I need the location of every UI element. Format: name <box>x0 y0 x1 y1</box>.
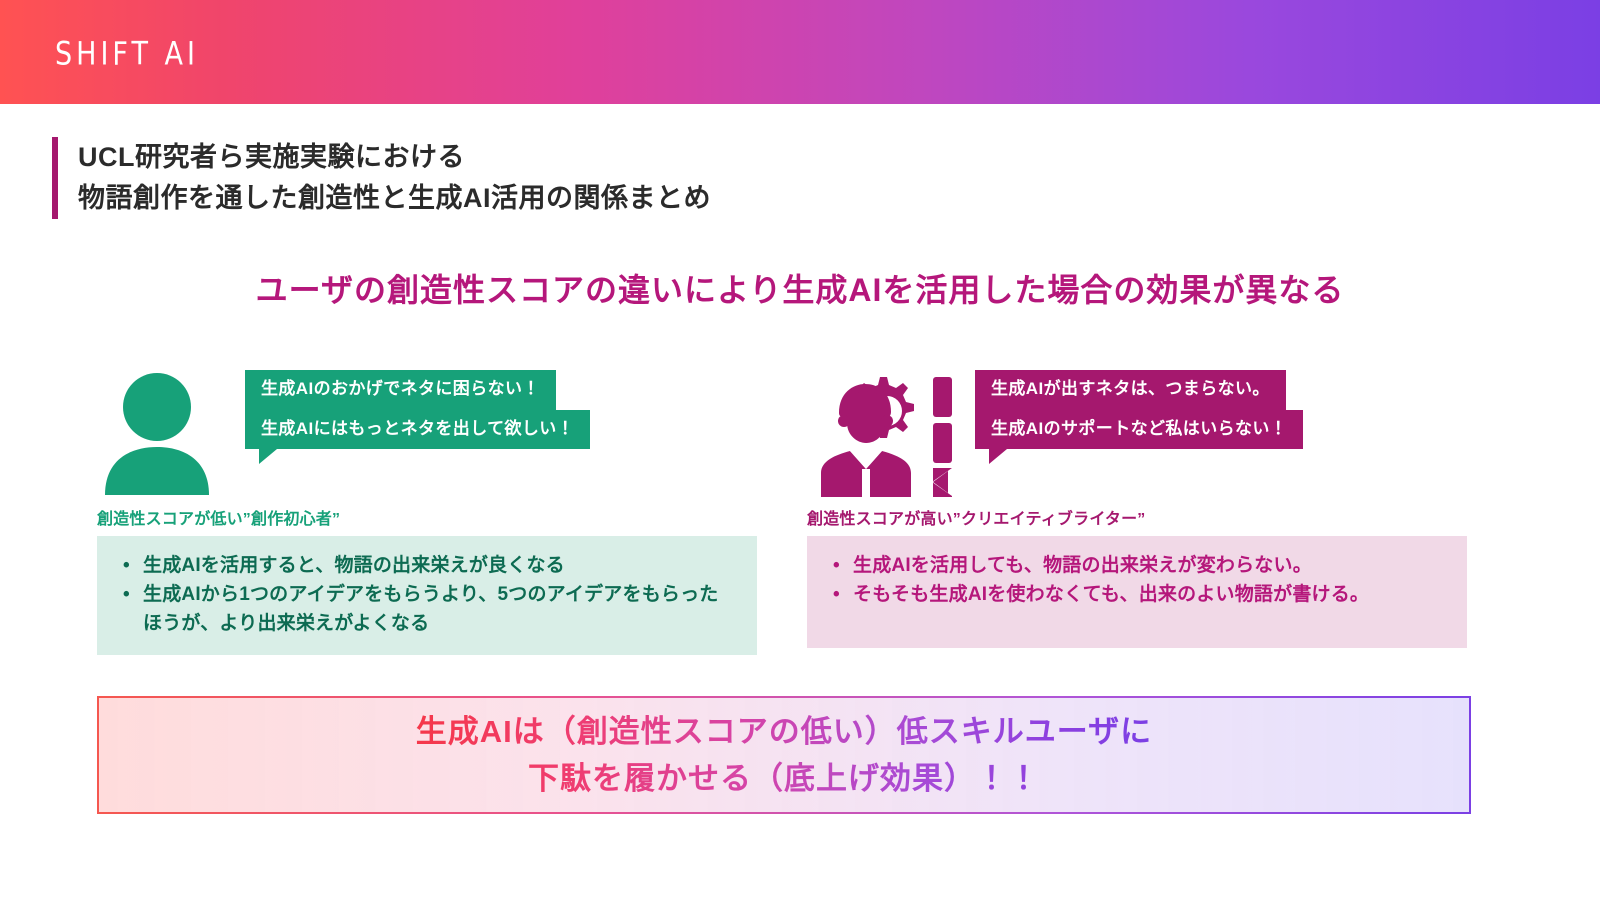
person-icon <box>95 365 245 495</box>
conclusion-text: 生成AIは（創造性スコアの低い）低スキルユーザに 下駄を履かせる（底上げ効果）！… <box>416 708 1152 802</box>
speech-bubbles-creative-writer: 生成AIが出すネタは、つまらない。 生成AIのサポートなど私はいらない！ <box>975 370 1303 449</box>
person-with-gear-icon <box>805 365 955 495</box>
persona-caption-novice: 創造性スコアが低い”創作初心者” <box>97 505 340 529</box>
speech-bubble: 生成AIが出すネタは、つまらない。 <box>975 370 1286 410</box>
speech-bubble: 生成AIのおかげでネタに困らない！ <box>245 370 556 410</box>
shift-ai-logo: SHIFT AI <box>55 36 199 73</box>
conclusion-banner: 生成AIは（創造性スコアの低い）低スキルユーザに 下駄を履かせる（底上げ効果）！… <box>97 696 1471 814</box>
page-header: SHIFT AI <box>0 0 1600 104</box>
findings-box-creative-writer: 生成AIを活用しても、物語の出来栄えが変わらない。 そもそも生成AIを使わなくて… <box>807 536 1467 648</box>
list-item: 生成AIを活用すると、物語の出来栄えが良くなる <box>143 552 737 581</box>
page-title: UCL研究者ら実施実験における 物語創作を通した創造性と生成AI活用の関係まとめ <box>52 137 711 219</box>
speech-bubble: 生成AIのサポートなど私はいらない！ <box>975 410 1303 450</box>
speech-bubble: 生成AIにはもっとネタを出して欲しい！ <box>245 410 590 450</box>
title-accent-bar <box>52 137 58 219</box>
title-text: UCL研究者ら実施実験における 物語創作を通した創造性と生成AI活用の関係まとめ <box>78 137 711 219</box>
persona-caption-creative-writer: 創造性スコアが高い”クリエイティブライター” <box>807 505 1145 529</box>
list-item: そもそも生成AIを使わなくても、出来のよい物語が書ける。 <box>853 581 1447 610</box>
subtitle-headline: ユーザの創造性スコアの違いにより生成AIを活用した場合の効果が異なる <box>0 265 1600 311</box>
findings-list: 生成AIを活用すると、物語の出来栄えが良くなる 生成AIから1つのアイデアをもら… <box>121 552 737 639</box>
findings-box-novice: 生成AIを活用すると、物語の出来栄えが良くなる 生成AIから1つのアイデアをもら… <box>97 536 757 655</box>
speech-bubbles-novice: 生成AIのおかげでネタに困らない！ 生成AIにはもっとネタを出して欲しい！ <box>245 370 590 449</box>
findings-list: 生成AIを活用しても、物語の出来栄えが変わらない。 そもそも生成AIを使わなくて… <box>831 552 1447 610</box>
list-item: 生成AIを活用しても、物語の出来栄えが変わらない。 <box>853 552 1447 581</box>
list-item: 生成AIから1つのアイデアをもらうより、5つのアイデアをもらったほうが、より出来… <box>143 581 737 639</box>
